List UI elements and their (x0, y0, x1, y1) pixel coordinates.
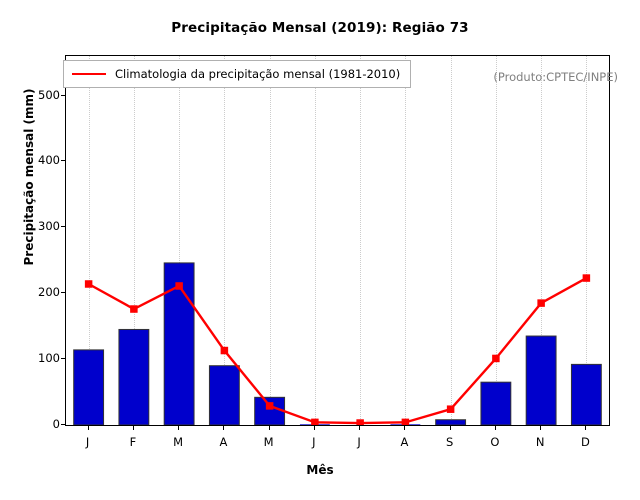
chart-figure: Precipitação Mensal (2019): Região 73 Pr… (0, 0, 640, 500)
line-marker-a-7 (402, 419, 410, 425)
x-tick-label-m-2: M (158, 435, 198, 449)
line-marker-s-8 (447, 405, 455, 413)
source-note: (Produto:CPTEC/INPE) (493, 70, 618, 84)
y-tick-label-500: 500 (38, 88, 60, 102)
bar-d-11 (571, 364, 601, 425)
x-tick-label-f-1: F (113, 435, 153, 449)
x-tick-mark-n-10 (540, 426, 541, 430)
y-tick-label-200: 200 (38, 285, 60, 299)
y-tick-mark-0 (61, 424, 65, 425)
x-tick-mark-a-3 (223, 426, 224, 430)
x-tick-mark-s-8 (450, 426, 451, 430)
line-marker-m-2 (175, 282, 183, 290)
x-tick-label-j-6: J (339, 435, 379, 449)
page-title: Precipitação Mensal (2019): Região 73 (0, 20, 640, 36)
x-axis-label: Mês (0, 463, 640, 477)
line-marker-m-4 (266, 402, 274, 410)
x-tick-label-j-5: J (294, 435, 334, 449)
bar-o-9 (481, 382, 511, 425)
x-tick-label-a-7: A (384, 435, 424, 449)
x-tick-mark-a-7 (404, 426, 405, 430)
bar-a-3 (209, 366, 239, 425)
chart-series (66, 56, 609, 425)
line-marker-o-9 (492, 355, 500, 363)
y-tick-mark-400 (61, 160, 65, 161)
x-tick-mark-f-1 (133, 426, 134, 430)
y-tick-mark-100 (61, 358, 65, 359)
y-tick-label-300: 300 (38, 219, 60, 233)
y-tick-mark-300 (61, 226, 65, 227)
x-tick-mark-o-9 (495, 426, 496, 430)
line-marker-f-1 (130, 305, 138, 313)
bar-m-4 (255, 397, 285, 425)
chart-legend: Climatologia da precipitação mensal (198… (63, 60, 411, 88)
y-tick-mark-200 (61, 292, 65, 293)
legend-item-label: Climatologia da precipitação mensal (198… (115, 67, 400, 81)
line-marker-a-3 (221, 347, 229, 355)
y-tick-label-0: 0 (53, 417, 60, 431)
legend-line-swatch (72, 73, 106, 75)
y-tick-label-400: 400 (38, 153, 60, 167)
bar-n-10 (526, 336, 556, 425)
x-tick-label-d-11: D (565, 435, 605, 449)
x-tick-mark-m-2 (178, 426, 179, 430)
x-tick-mark-d-11 (585, 426, 586, 430)
line-marker-j-0 (85, 280, 93, 288)
x-tick-label-s-8: S (430, 435, 470, 449)
x-tick-label-o-9: O (475, 435, 515, 449)
line-marker-n-10 (537, 299, 545, 307)
bar-j-0 (74, 350, 104, 425)
line-marker-j-6 (356, 419, 364, 425)
line-marker-d-11 (583, 274, 591, 282)
x-tick-label-m-4: M (249, 435, 289, 449)
bar-f-1 (119, 329, 149, 425)
climatology-line (89, 278, 587, 423)
x-tick-label-n-10: N (520, 435, 560, 449)
line-marker-j-5 (311, 419, 319, 425)
plot-area (65, 55, 610, 426)
y-tick-label-100: 100 (38, 351, 60, 365)
x-tick-label-a-3: A (203, 435, 243, 449)
y-tick-mark-500 (61, 95, 65, 96)
y-axis-tick-labels: 0100200300400500 (18, 55, 60, 426)
x-tick-mark-m-4 (269, 426, 270, 430)
bar-s-8 (436, 420, 466, 425)
x-tick-mark-j-0 (88, 426, 89, 430)
x-tick-label-j-0: J (68, 435, 108, 449)
x-tick-mark-j-6 (359, 426, 360, 430)
x-tick-mark-j-5 (314, 426, 315, 430)
